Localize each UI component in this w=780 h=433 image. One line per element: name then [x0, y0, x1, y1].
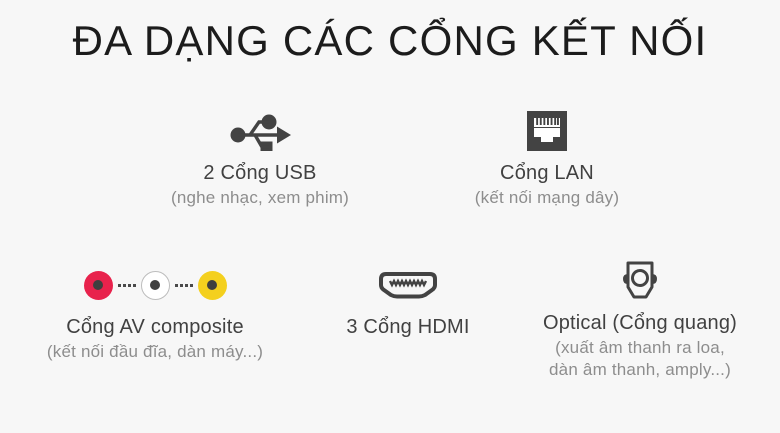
optical-sub-1: (xuất âm thanh ra loa, [500, 337, 780, 358]
feature-optical: Optical (Cổng quang) (xuất âm thanh ra l… [500, 258, 780, 380]
optical-port-icon [616, 259, 664, 303]
hdmi-icon-wrap [318, 262, 498, 308]
optical-sub-2: dàn âm thanh, amply...) [500, 359, 780, 380]
rca-jack-red [84, 271, 113, 300]
usb-label: 2 Cổng USB [130, 160, 390, 186]
lan-sub: (kết nối mạng dây) [432, 187, 662, 208]
av-sub: (kết nối đầu đĩa, dàn máy...) [5, 341, 305, 362]
rca-core-white [150, 280, 160, 290]
rca-core-yellow [207, 280, 217, 290]
optical-label: Optical (Cổng quang) [500, 310, 780, 336]
av-label: Cổng AV composite [5, 314, 305, 340]
av-composite-icon [84, 271, 227, 300]
rca-connector-right [175, 284, 193, 287]
connectivity-poster: ĐA DẠNG CÁC CỔNG KẾT NỐI 2 Cổng USB (ngh… [0, 0, 780, 433]
optical-icon-wrap [500, 258, 780, 304]
usb-icon-wrap [130, 108, 390, 154]
feature-hdmi: 3 Cổng HDMI [318, 262, 498, 340]
page-title: ĐA DẠNG CÁC CỔNG KẾT NỐI [0, 16, 780, 66]
rca-connector-left [118, 284, 136, 287]
feature-usb: 2 Cổng USB (nghe nhạc, xem phim) [130, 108, 390, 208]
rca-jack-yellow [198, 271, 227, 300]
lan-port-icon [527, 111, 567, 151]
hdmi-label: 3 Cổng HDMI [318, 314, 498, 340]
usb-icon [229, 111, 291, 151]
av-icon-wrap [5, 262, 305, 308]
feature-lan: Cổng LAN (kết nối mạng dây) [432, 108, 662, 208]
rca-jack-white [141, 271, 170, 300]
lan-label: Cổng LAN [432, 160, 662, 186]
rca-core-red [93, 280, 103, 290]
lan-icon-wrap [432, 108, 662, 154]
usb-sub: (nghe nhạc, xem phim) [130, 187, 390, 208]
feature-av-composite: Cổng AV composite (kết nối đầu đĩa, dàn … [5, 262, 305, 362]
hdmi-icon [377, 270, 439, 300]
